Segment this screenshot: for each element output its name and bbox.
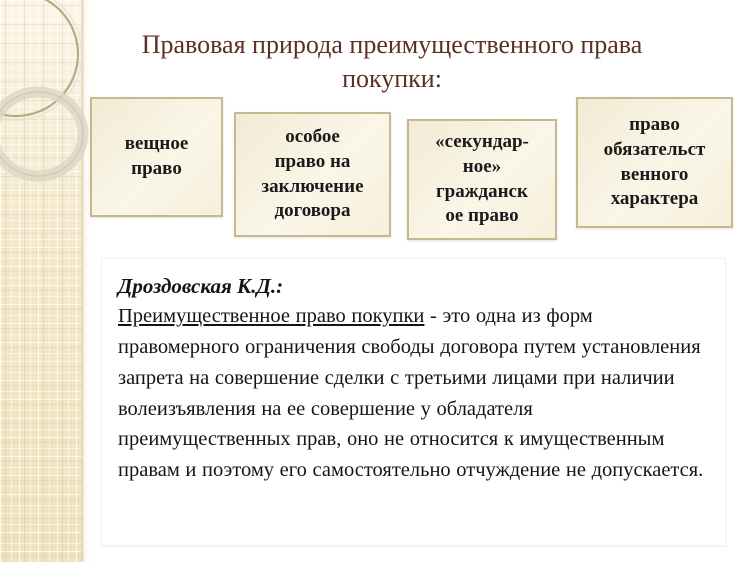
definition-text: Преимущественное право покупки - это одн…: [118, 301, 709, 486]
plaid-texture-strip: [0, 0, 82, 562]
definition-body: - это одна из форм правомерного ограниче…: [118, 305, 703, 481]
concept-box-label: особое право на заключение договора: [242, 125, 383, 224]
concept-box-label: вещное право: [98, 132, 215, 181]
concept-box-osoboe-pravo[interactable]: особое право на заключение договора: [234, 112, 391, 237]
strip-edge-line: [82, 0, 85, 562]
concept-box-label: «секундар- ное» гражданск ое право: [415, 130, 549, 229]
author-attribution: Дроздовская К.Д.:: [118, 273, 709, 299]
concept-box-sekundarnoe-pravo[interactable]: «секундар- ное» гражданск ое право: [407, 119, 557, 240]
slide-canvas: Правовая природа преимущественного права…: [0, 0, 750, 562]
concept-box-label: право обязательст венного характера: [584, 113, 725, 212]
page-title: Правовая природа преимущественного права…: [132, 28, 652, 97]
concept-box-veshnoe-pravo[interactable]: вещное право: [90, 97, 223, 217]
definition-lead-term: Преимущественное право покупки: [118, 305, 424, 327]
definition-panel: Дроздовская К.Д.: Преимущественное право…: [101, 258, 726, 546]
concept-box-obyazatelstvennoe-pravo[interactable]: право обязательст венного характера: [576, 97, 733, 228]
